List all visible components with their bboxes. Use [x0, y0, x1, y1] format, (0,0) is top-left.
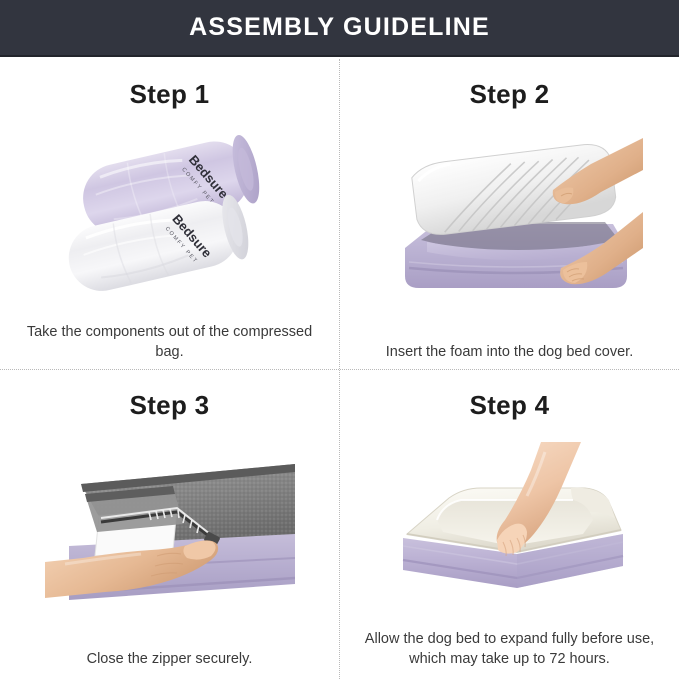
step-panel-1: Step 1 — [0, 59, 339, 369]
step-illustration-2 — [340, 110, 679, 342]
step-panel-2: Step 2 — [340, 59, 679, 369]
step-caption-4: Allow the dog bed to expand fully before… — [365, 629, 655, 680]
header-bar: ASSEMBLY GUIDELINE — [0, 0, 679, 57]
steps-grid: Step 1 — [0, 59, 679, 679]
step-caption-3: Close the zipper securely. — [25, 649, 315, 680]
step-title-1: Step 1 — [130, 79, 210, 110]
step-illustration-1: Bedsure COMFY PET Bedsure — [0, 110, 339, 322]
hand-pressing-expanded-bed-icon — [385, 442, 635, 607]
step-panel-3: Step 3 — [0, 370, 339, 680]
step-illustration-4 — [340, 421, 679, 629]
step-illustration-3 — [0, 421, 339, 649]
step-title-3: Step 3 — [130, 390, 210, 421]
step-title-4: Step 4 — [470, 390, 550, 421]
step-title-2: Step 2 — [470, 79, 550, 110]
step-panel-4: Step 4 — [340, 370, 679, 680]
page-title: ASSEMBLY GUIDELINE — [189, 13, 490, 42]
hand-closing-zipper-icon — [45, 450, 295, 620]
hands-inserting-foam-icon — [375, 136, 645, 316]
step-caption-1: Take the components out of the compresse… — [25, 322, 315, 369]
step-caption-2: Insert the foam into the dog bed cover. — [365, 342, 655, 369]
compressed-bags-rolls-icon: Bedsure COMFY PET Bedsure — [40, 126, 300, 306]
